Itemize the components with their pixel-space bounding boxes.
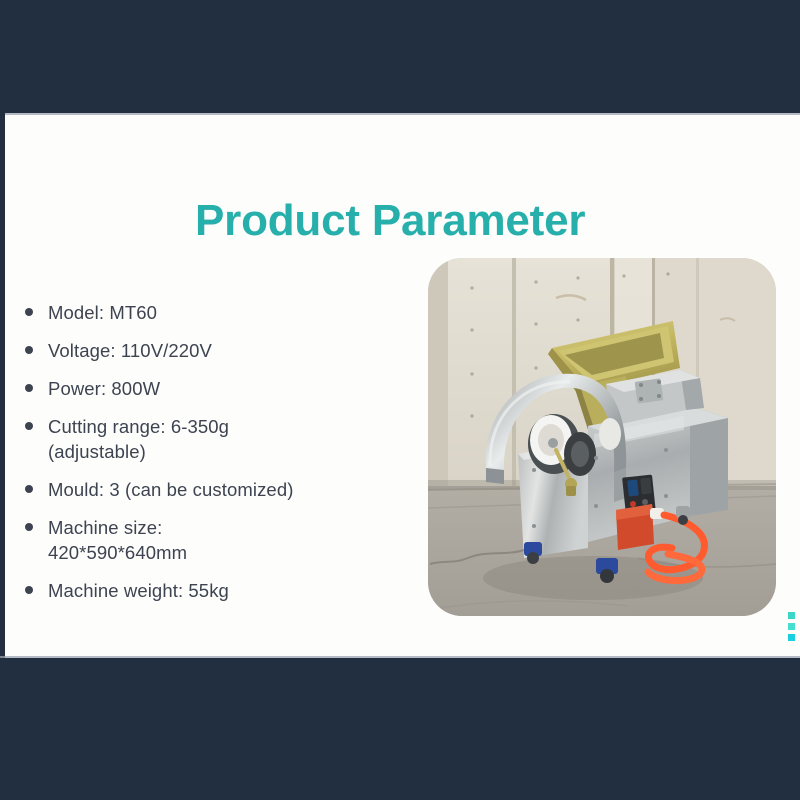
page-title: Product Parameter [195,196,585,246]
spec-list: Model: MT60 Voltage: 110V/220V Power: 80… [22,300,412,616]
dot-square-2 [788,623,795,630]
spec-text: Cutting range: 6-350g (adjustable) [48,414,412,464]
list-item: Model: MT60 [22,300,412,325]
product-photo-illustration [428,258,776,616]
spec-text: Machine size: 420*590*640mm [48,515,412,565]
bullet-icon [25,485,33,493]
bullet-icon [25,308,33,316]
list-item: Voltage: 110V/220V [22,338,412,363]
bullet-icon [25,523,33,531]
spec-text: Machine weight: 55kg [48,578,412,603]
bottom-band [0,658,800,800]
spec-text: Voltage: 110V/220V [48,338,412,363]
list-item: Mould: 3 (can be customized) [22,477,412,502]
list-item: Power: 800W [22,376,412,401]
list-item: Machine size: 420*590*640mm [22,515,412,565]
spec-text: Model: MT60 [48,300,412,325]
top-band [0,0,800,113]
spec-text: Power: 800W [48,376,412,401]
bullet-icon [25,346,33,354]
product-photo [428,258,776,616]
list-item: Cutting range: 6-350g (adjustable) [22,414,412,464]
bullet-icon [25,384,33,392]
spec-text: Mould: 3 (can be customized) [48,477,412,502]
decorative-dots-marker [788,612,795,641]
bullet-icon [25,422,33,430]
bullet-icon [25,586,33,594]
product-parameter-page: Product Parameter Model: MT60 Voltage: 1… [0,0,800,800]
dot-square-1 [788,612,795,619]
list-item: Machine weight: 55kg [22,578,412,603]
dot-square-3 [788,634,795,641]
